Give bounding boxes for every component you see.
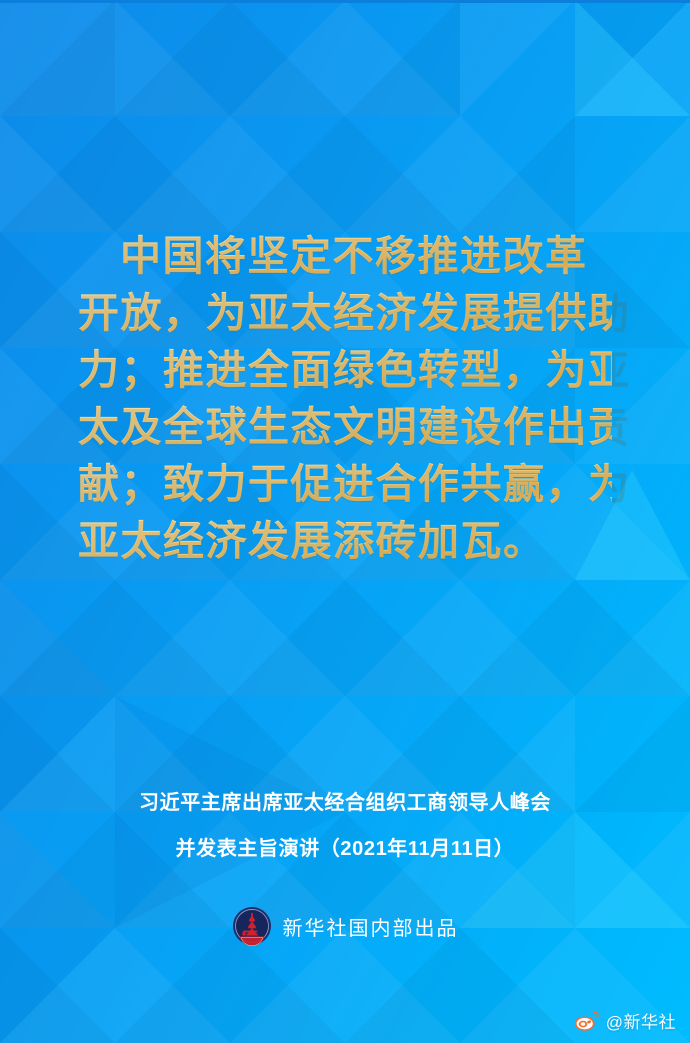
poster-canvas: 中国将坚定不移推进改革 开放，为亚太经济发展提供助 力；推进全面绿色转型，为亚 …	[0, 0, 690, 1043]
quote-line-2: 开放，为亚太经济发展提供助	[78, 285, 612, 342]
weibo-handle: @新华社	[606, 1008, 676, 1033]
quote-line-1: 中国将坚定不移推进改革	[78, 228, 612, 285]
quote-line-4: 太及全球生态文明建设作出贡	[78, 399, 612, 456]
quote-line-6: 亚太经济发展添砖加瓦。	[78, 513, 612, 570]
caption-line-date: 并发表主旨演讲（2021年11月11日）	[0, 826, 690, 872]
quote-line-5: 献；致力于促进合作共赢，为	[78, 456, 612, 513]
quote-block: 中国将坚定不移推进改革 开放，为亚太经济发展提供助 力；推进全面绿色转型，为亚 …	[0, 228, 690, 570]
imprint-label: 新华社国内部出品	[283, 912, 459, 941]
xinhua-emblem-icon	[232, 906, 272, 946]
weibo-watermark: @新华社	[574, 1008, 676, 1033]
quote-line-3: 力；推进全面绿色转型，为亚	[78, 342, 612, 399]
caption-block: 习近平主席出席亚太经合组织工商领导人峰会 并发表主旨演讲（2021年11月11日…	[0, 780, 690, 872]
weibo-icon	[574, 1010, 600, 1032]
imprint-block: 新华社国内部出品	[0, 906, 690, 946]
caption-line-event: 习近平主席出席亚太经合组织工商领导人峰会	[0, 780, 690, 826]
top-edge-strip	[0, 0, 690, 3]
